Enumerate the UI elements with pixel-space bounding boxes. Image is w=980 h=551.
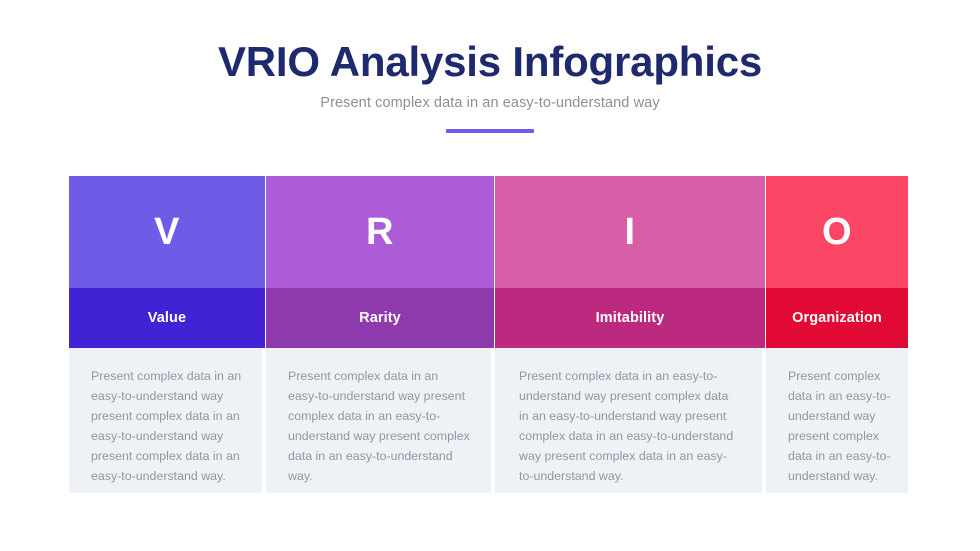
label-cell-rarity[interactable]: Rarity: [266, 288, 495, 348]
label-column-value: Value: [69, 288, 266, 348]
label-column-organization: Organization: [766, 288, 908, 348]
body-column-imitability: Present complex data in an easy-to-under…: [495, 348, 766, 493]
label-cell-organization[interactable]: Organization: [766, 288, 908, 348]
label-text-rarity: Rarity: [359, 310, 401, 326]
letter-glyph-r: R: [366, 213, 394, 251]
column-imitability: I: [495, 176, 766, 288]
label-column-rarity: Rarity: [266, 288, 495, 348]
letter-glyph-i: I: [624, 213, 635, 251]
column-rarity: R: [266, 176, 495, 288]
letter-cell-imitability[interactable]: I: [495, 176, 766, 288]
label-column-imitability: Imitability: [495, 288, 766, 348]
matrix-letter-row: V R I O: [69, 176, 908, 288]
label-cell-imitability[interactable]: Imitability: [495, 288, 766, 348]
column-value: V: [69, 176, 266, 288]
letter-cell-value[interactable]: V: [69, 176, 266, 288]
body-cell-organization: Present complex data in an easy-to-under…: [766, 348, 908, 493]
body-text-imitability: Present complex data in an easy-to-under…: [519, 366, 738, 487]
letter-cell-organization[interactable]: O: [766, 176, 908, 288]
body-cell-imitability: Present complex data in an easy-to-under…: [495, 348, 766, 493]
body-cell-value: Present complex data in an easy-to-under…: [69, 348, 266, 493]
vrio-matrix: V R I O Value: [69, 176, 908, 493]
slide-canvas: VRIO Analysis Infographics Present compl…: [0, 0, 980, 551]
label-text-imitability: Imitability: [596, 310, 665, 326]
page-title: VRIO Analysis Infographics: [0, 38, 980, 85]
accent-underline: [446, 129, 534, 133]
letter-glyph-o: O: [822, 213, 852, 251]
body-column-organization: Present complex data in an easy-to-under…: [766, 348, 908, 493]
slide-header: VRIO Analysis Infographics Present compl…: [0, 38, 980, 133]
matrix-body-row: Present complex data in an easy-to-under…: [69, 348, 908, 493]
matrix-label-row: Value Rarity Imitability Organization: [69, 288, 908, 348]
body-text-rarity: Present complex data in an easy-to-under…: [288, 366, 471, 487]
label-cell-value[interactable]: Value: [69, 288, 266, 348]
body-text-value: Present complex data in an easy-to-under…: [91, 366, 242, 487]
label-text-organization: Organization: [792, 310, 882, 326]
letter-cell-rarity[interactable]: R: [266, 176, 495, 288]
body-text-organization: Present complex data in an easy-to-under…: [788, 366, 896, 487]
body-column-rarity: Present complex data in an easy-to-under…: [266, 348, 495, 493]
page-subtitle: Present complex data in an easy-to-under…: [0, 95, 980, 111]
body-cell-rarity: Present complex data in an easy-to-under…: [266, 348, 495, 493]
letter-glyph-v: V: [154, 213, 180, 251]
body-column-value: Present complex data in an easy-to-under…: [69, 348, 266, 493]
column-organization: O: [766, 176, 908, 288]
label-text-value: Value: [148, 310, 186, 326]
